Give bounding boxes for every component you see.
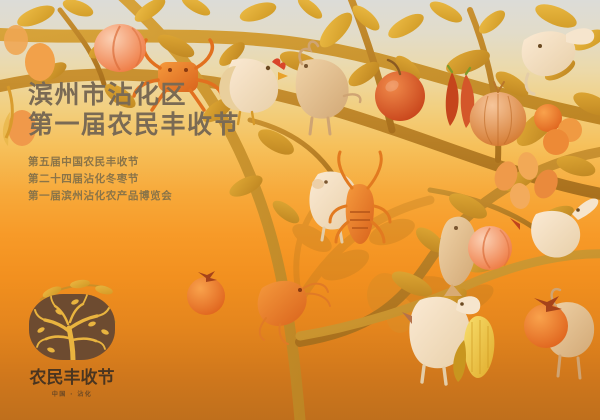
- festival-logo: 农民丰收节 中国 · 沾化: [22, 294, 122, 398]
- logo-wordmark: 农民丰收节: [22, 363, 122, 388]
- tree-icon: [29, 294, 115, 360]
- poster-canvas: 滨州市沾化区 第一届农民丰收节 第五届中国农民丰收节 第二十四届沾化冬枣节 第一…: [0, 0, 600, 420]
- peach-ornament: [94, 24, 146, 72]
- persimmon-ornament: [187, 271, 225, 315]
- rabbit-ornament: [522, 28, 594, 94]
- subtitle-line-1: 第五届中国农民丰收节: [28, 154, 358, 171]
- logo-disc: [29, 294, 115, 360]
- title-block: 滨州市沾化区 第一届农民丰收节 第五届中国农民丰收节 第二十四届沾化冬枣节 第一…: [28, 80, 358, 205]
- subtitle-line-2: 第二十四届沾化冬枣节: [28, 171, 358, 188]
- logo-tagline: 中国 · 沾化: [22, 389, 122, 398]
- page-title-line-1: 滨州市沾化区: [28, 80, 358, 110]
- subtitle-line-3: 第一届滨州沾化农产品博览会: [28, 188, 358, 205]
- page-title-line-2: 第一届农民丰收节: [28, 110, 358, 140]
- subtitle-list: 第五届中国农民丰收节 第二十四届沾化冬枣节 第一届滨州沾化农产品博览会: [28, 154, 358, 205]
- peach-ornament-lower: [468, 226, 512, 270]
